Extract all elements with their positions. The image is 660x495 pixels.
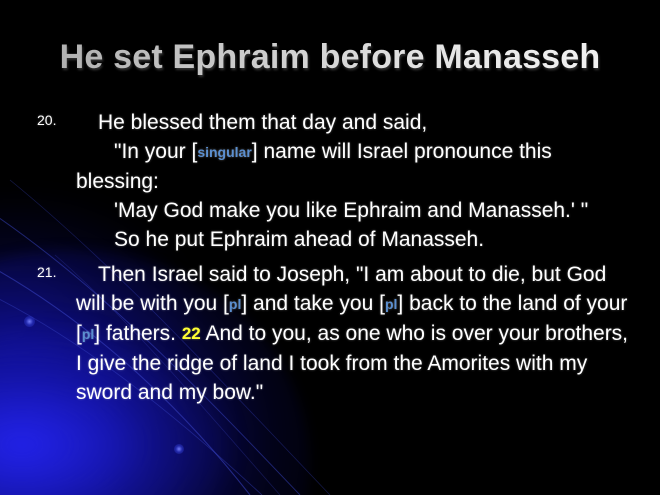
gloss-plural-3: pl — [82, 326, 94, 342]
gloss-plural-1: pl — [229, 296, 241, 312]
verse-21-segment-2: ] and take you [ — [241, 292, 385, 315]
verse-number-20: 20. — [37, 113, 56, 127]
verse-20-line-3: 'May God make you like Ephraim and Manas… — [114, 199, 588, 222]
gloss-singular: singular — [197, 144, 251, 160]
verse-number-21: 21. — [37, 265, 56, 279]
background-dot-lower — [174, 444, 184, 454]
slide-title: He set Ephraim before Manasseh — [0, 38, 660, 77]
presentation-slide: He set Ephraim before Manasseh 20. He bl… — [0, 0, 660, 495]
verse-paragraph-21: 21. Then Israel said to Joseph, "I am ab… — [34, 260, 630, 407]
gloss-plural-2: pl — [385, 296, 397, 312]
verse-20-line-4: So he put Ephraim ahead of Manasseh. — [114, 228, 484, 251]
verse-20-line-1: He blessed them that day and said, — [98, 111, 427, 134]
verse-paragraph-20: 20. He blessed them that day and said, "… — [34, 108, 630, 254]
verse-20-text: He blessed them that day and said, "In y… — [76, 111, 588, 251]
verse-21-segment-4: ] fathers. — [94, 322, 176, 345]
verse-21-text: Then Israel said to Joseph, "I am about … — [76, 263, 628, 404]
verse-marker-22: 22 — [182, 324, 201, 343]
slide-body: 20. He blessed them that day and said, "… — [34, 108, 630, 409]
verse-20-line-2a: "In your [ — [114, 140, 197, 163]
